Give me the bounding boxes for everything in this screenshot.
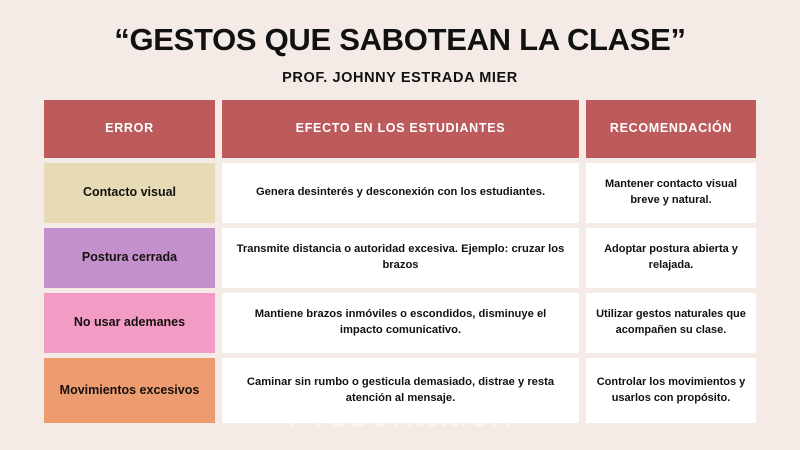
table-row: Movimientos excesivos Caminar sin rumbo … bbox=[44, 358, 756, 423]
page-title: “GESTOS QUE SABOTEAN LA CLASE” bbox=[0, 22, 800, 58]
row-efecto-cell: Caminar sin rumbo o gesticula demasiado,… bbox=[222, 358, 579, 423]
table-row: Contacto visual Genera desinterés y desc… bbox=[44, 163, 756, 223]
row-recomendacion-cell: Controlar los movimientos y usarlos con … bbox=[586, 358, 756, 423]
row-label-cell: Movimientos excesivos bbox=[44, 358, 215, 423]
row-label-cell: No usar ademanes bbox=[44, 293, 215, 353]
row-label-cell: Postura cerrada bbox=[44, 228, 215, 288]
slide-canvas: Presentation “GESTOS QUE SABOTEAN LA CLA… bbox=[0, 0, 800, 450]
row-recomendacion-cell: Mantener contacto visual breve y natural… bbox=[586, 163, 756, 223]
column-header-efecto: EFECTO EN LOS ESTUDIANTES bbox=[222, 100, 579, 158]
page-subtitle: PROF. JOHNNY ESTRADA MIER bbox=[0, 70, 800, 86]
column-header-recomendacion: RECOMENDACIÓN bbox=[586, 100, 756, 158]
table-row: Postura cerrada Transmite distancia o au… bbox=[44, 228, 756, 288]
column-header-error: ERROR bbox=[44, 100, 215, 158]
row-recomendacion-cell: Utilizar gestos naturales que acompañen … bbox=[586, 293, 756, 353]
comparison-table: ERROR EFECTO EN LOS ESTUDIANTES RECOMEND… bbox=[44, 100, 756, 428]
row-efecto-cell: Mantiene brazos inmóviles o escondidos, … bbox=[222, 293, 579, 353]
row-label-cell: Contacto visual bbox=[44, 163, 215, 223]
row-efecto-cell: Transmite distancia o autoridad excesiva… bbox=[222, 228, 579, 288]
row-efecto-cell: Genera desinterés y desconexión con los … bbox=[222, 163, 579, 223]
table-header-row: ERROR EFECTO EN LOS ESTUDIANTES RECOMEND… bbox=[44, 100, 756, 158]
table-row: No usar ademanes Mantiene brazos inmóvil… bbox=[44, 293, 756, 353]
row-recomendacion-cell: Adoptar postura abierta y relajada. bbox=[586, 228, 756, 288]
